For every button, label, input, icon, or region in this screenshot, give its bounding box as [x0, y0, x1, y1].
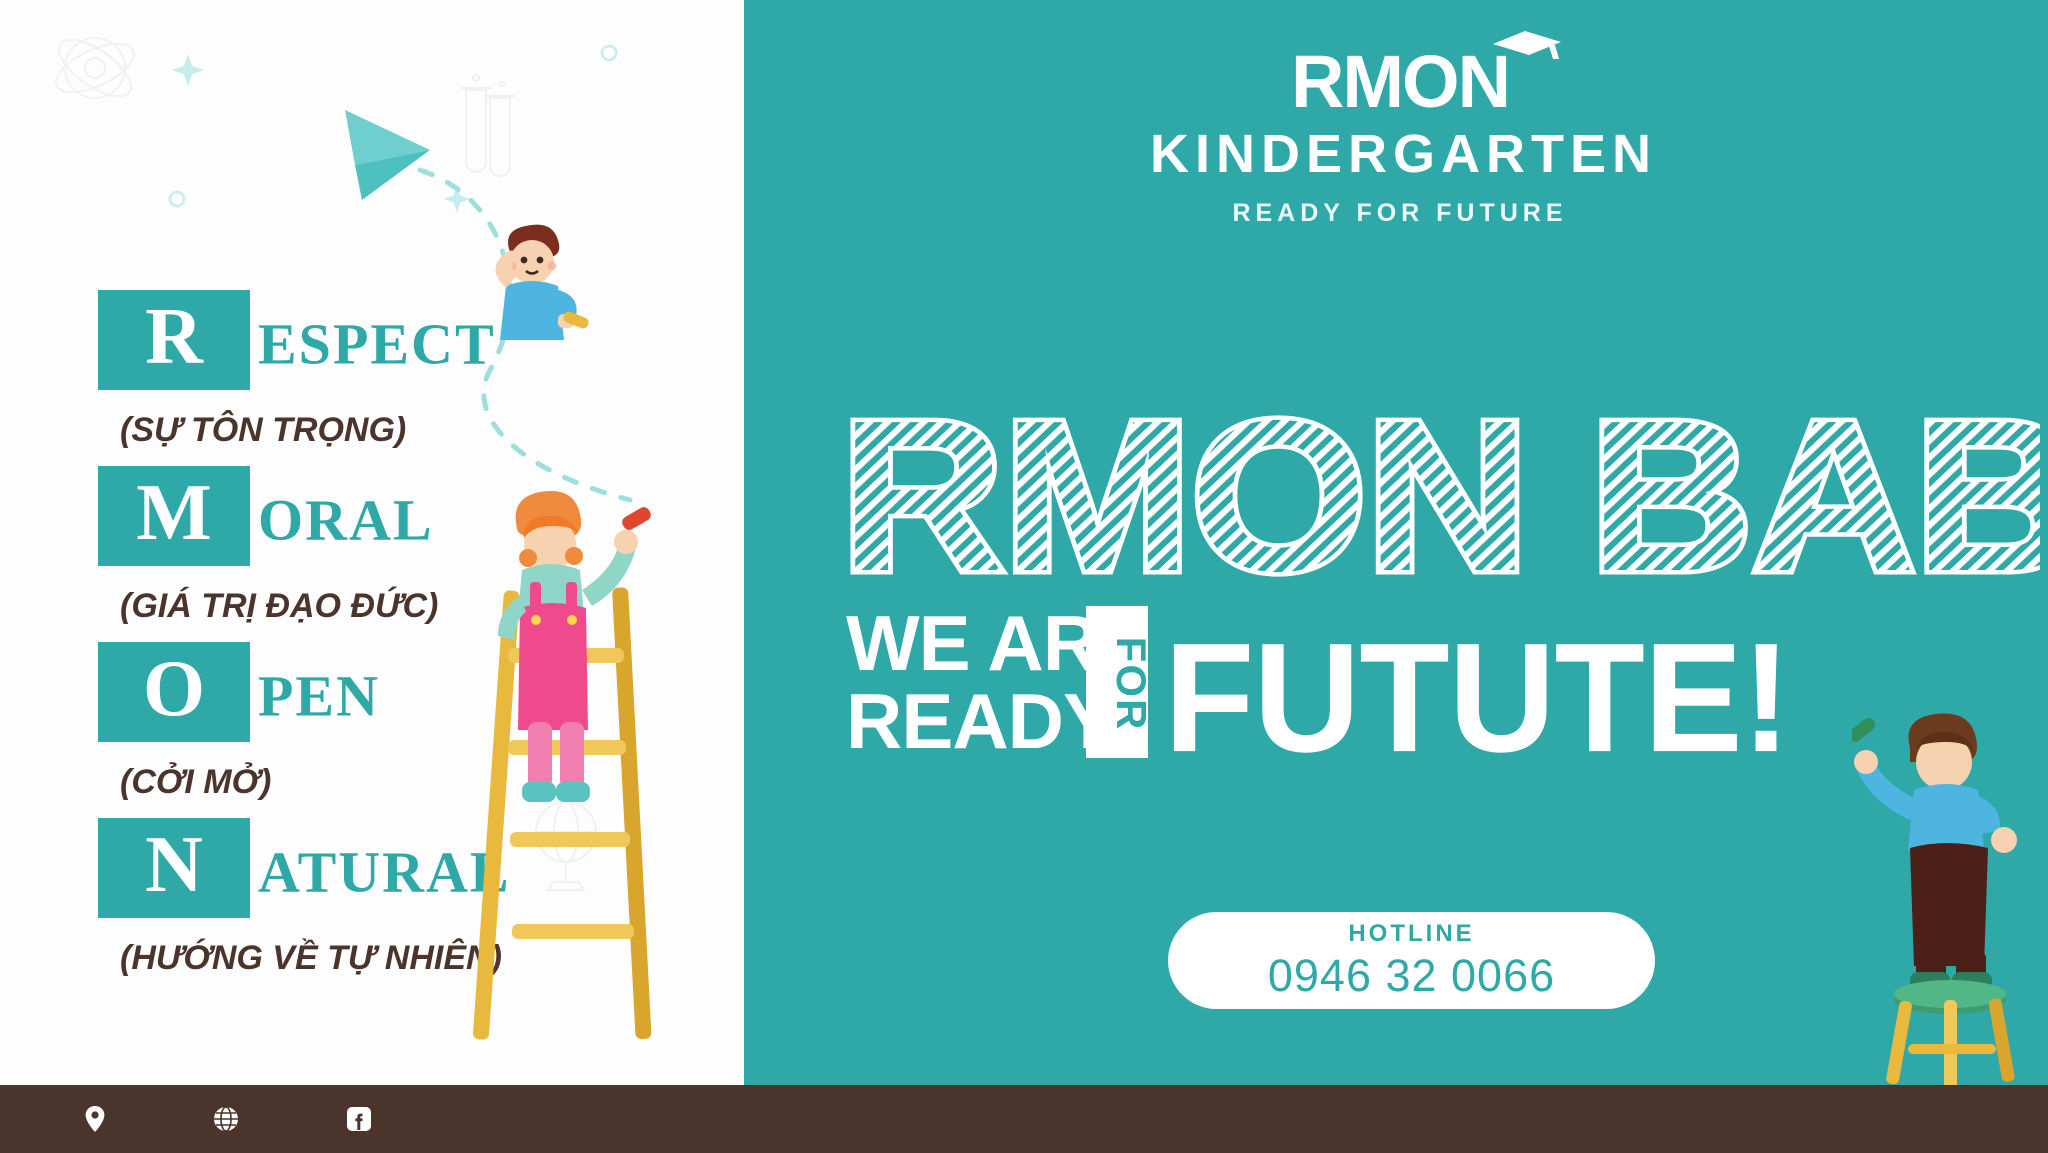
value-initial: N: [98, 818, 250, 918]
value-word: ESPECT: [258, 310, 496, 377]
boy-drawing-icon: [1852, 700, 2048, 1120]
headline-primary-art: RMON BABY: [840, 378, 2040, 608]
atom-icon: [40, 18, 150, 118]
value-word: ORAL: [258, 486, 434, 553]
logo-mark-text: RMON: [1291, 40, 1509, 123]
value-initial: O: [98, 642, 250, 742]
brand-logo: RMON KINDERGARTEN READY FOR FUTURE: [1150, 45, 1650, 228]
footer-facebook[interactable]: [346, 1106, 383, 1132]
hotline-badge[interactable]: HOTLINE 0946 32 0066: [1168, 912, 1655, 1009]
sparkle-icon: [168, 50, 208, 90]
location-pin-icon: [84, 1105, 106, 1133]
value-initial-row: R ESPECT: [98, 290, 718, 397]
logo-tagline: READY FOR FUTURE: [1150, 199, 1650, 228]
circle-outline-icon: [166, 188, 188, 210]
footer-address: [84, 1105, 117, 1133]
graduation-cap-icon: [1489, 28, 1565, 62]
value-initial: R: [98, 290, 250, 390]
headline-primary: RMON BABY: [840, 378, 2040, 608]
value-translation: (SỰ TÔN TRỌNG): [98, 397, 718, 466]
value-initial: M: [98, 466, 250, 566]
facebook-icon: [346, 1106, 372, 1132]
value-word: PEN: [258, 662, 380, 729]
logo-mark-wrap: RMON: [1291, 45, 1509, 119]
hotline-label: HOTLINE: [1348, 920, 1474, 948]
hotline-number: 0946 32 0066: [1268, 950, 1555, 1002]
girl-on-ladder-icon: [470, 470, 700, 1050]
svg-text:READY: READY: [846, 677, 1114, 765]
svg-text:FOR: FOR: [1108, 637, 1155, 732]
svg-text:FUTUTE!: FUTUTE!: [1164, 612, 1790, 785]
poster-canvas: R ESPECT (SỰ TÔN TRỌNG) M ORAL (GIÁ TRỊ …: [0, 0, 2048, 1153]
footer-bar: [0, 1085, 2048, 1153]
footer-website[interactable]: [213, 1106, 250, 1132]
globe-icon: [213, 1106, 239, 1132]
boy-peeking-icon: [470, 218, 600, 368]
svg-text:RMON BABY: RMON BABY: [840, 378, 2040, 608]
circle-outline-icon: [598, 42, 620, 64]
logo-wordmark: KINDERGARTEN: [1150, 123, 1650, 185]
value-item-respect: R ESPECT (SỰ TÔN TRỌNG): [98, 290, 718, 466]
